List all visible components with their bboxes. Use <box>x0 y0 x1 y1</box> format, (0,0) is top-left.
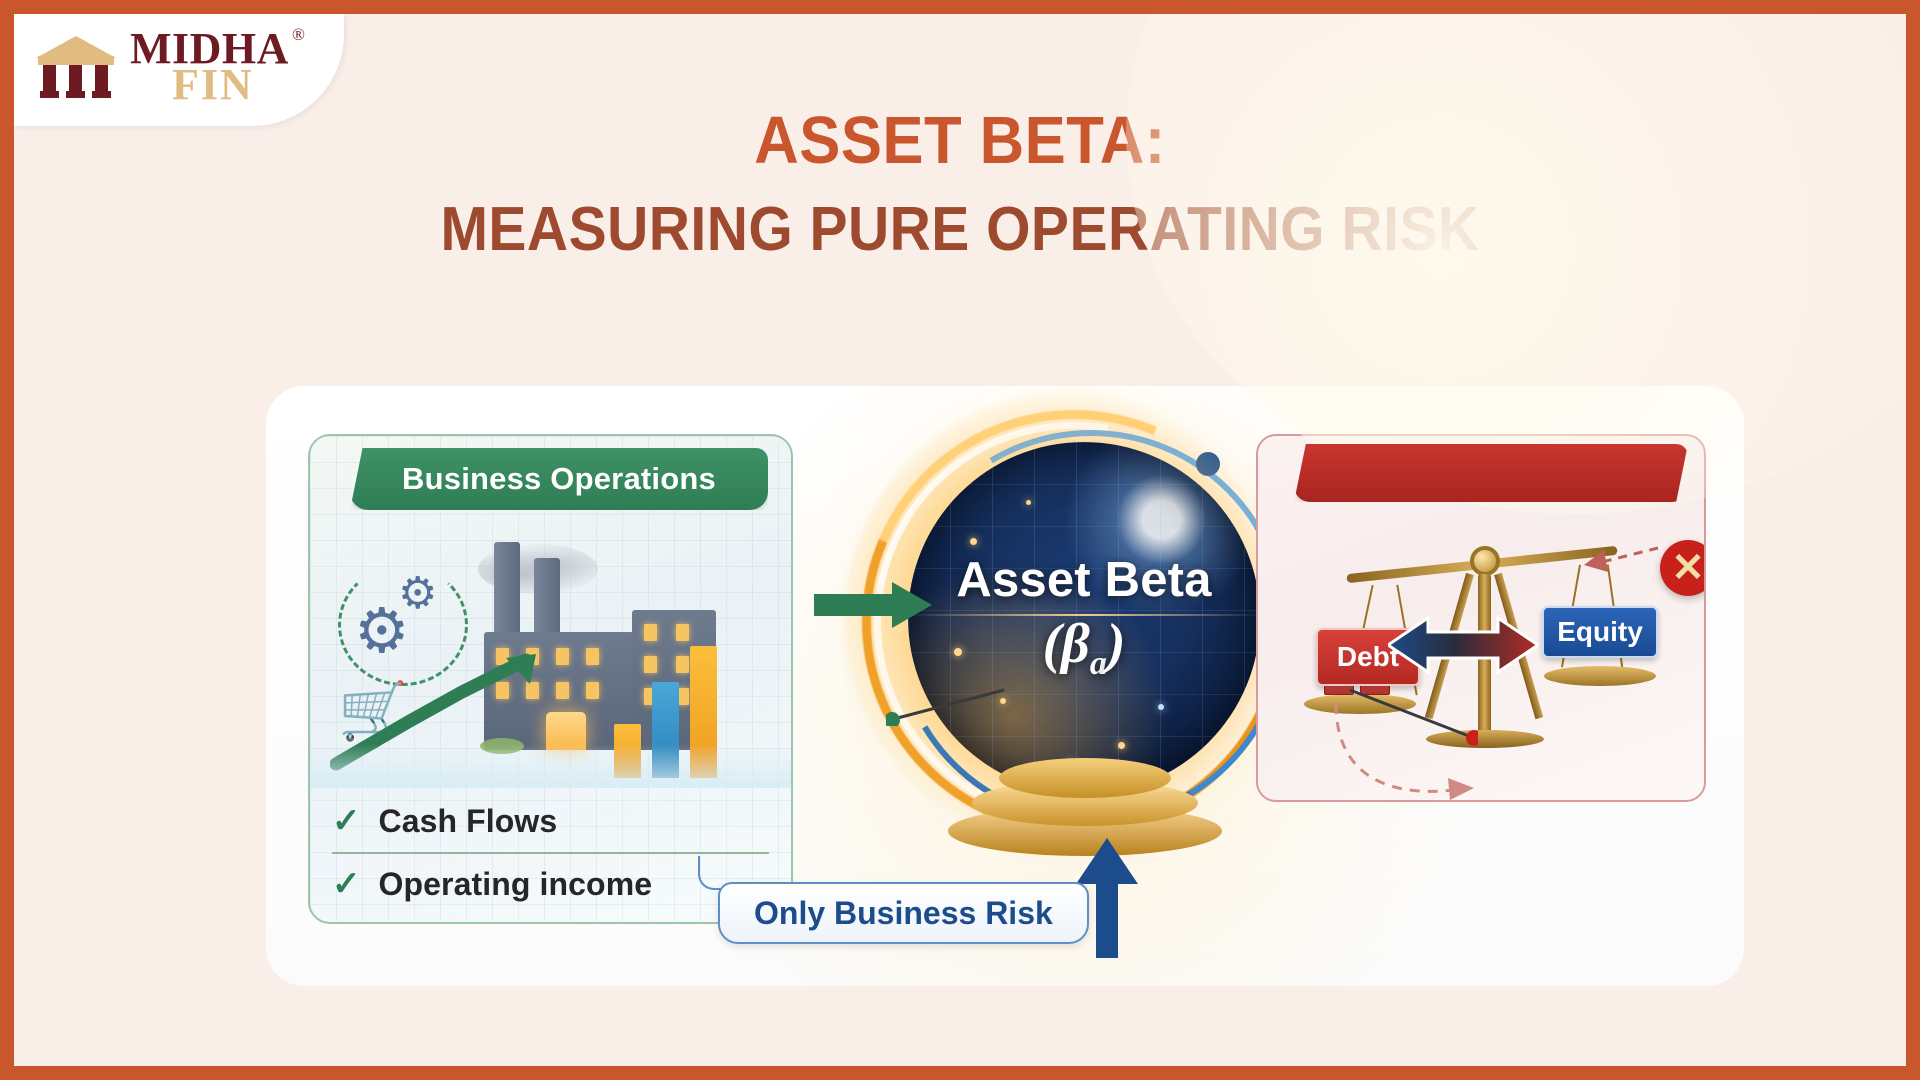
equity-label: Equity <box>1557 616 1643 648</box>
brand-logo[interactable]: MIDHA ® FIN <box>14 14 344 126</box>
equity-tag: Equity <box>1542 606 1658 658</box>
gear-icon: ⚙ <box>398 568 437 619</box>
bidirectional-arrow <box>1388 614 1538 676</box>
page-canvas: MIDHA ® FIN ASSET BETA: MEASURING PURE O… <box>14 14 1906 1066</box>
left-connector-line <box>886 686 1006 726</box>
diagram-card: Business Operations ⚙ ⚙ 🛒 <box>266 386 1744 986</box>
brand-wordmark: MIDHA ® FIN <box>130 30 305 104</box>
checklist-label: Operating income <box>379 866 653 903</box>
only-business-risk-label: Only Business Risk <box>754 895 1053 932</box>
dashed-pointer-arrow <box>1566 538 1662 574</box>
exclusion-x-icon: ✕ <box>1660 540 1706 596</box>
inflow-arrow <box>814 582 932 628</box>
only-business-risk-badge: Only Business Risk <box>718 882 1089 944</box>
page-subtitle: MEASURING PURE OPERATING RISK <box>90 194 1831 265</box>
page-title: ASSET BETA: <box>90 102 1831 179</box>
checklist-label: Cash Flows <box>379 803 558 840</box>
registered-mark: ® <box>292 28 305 43</box>
capital-structure-banner <box>1294 444 1688 502</box>
check-icon: ✓ <box>332 804 361 838</box>
paren-open: ( <box>1043 613 1062 675</box>
beta-subscript: a <box>1090 646 1107 683</box>
temple-pillars-icon <box>36 34 116 100</box>
beta-glyph: β <box>1061 613 1090 675</box>
exclusion-x-glyph: ✕ <box>1671 548 1705 588</box>
gears-group: ⚙ ⚙ <box>346 554 466 664</box>
business-operations-banner: Business Operations <box>350 448 768 510</box>
check-icon: ✓ <box>332 867 361 901</box>
sphere-title: Asset Beta <box>956 552 1211 608</box>
business-operations-label: Business Operations <box>402 461 716 497</box>
sphere-label-group: Asset Beta (βa) <box>908 442 1260 794</box>
beta-symbol: (βa) <box>1043 612 1126 683</box>
paren-close: ) <box>1107 613 1126 675</box>
dashed-exclusion-curve <box>1328 696 1478 802</box>
